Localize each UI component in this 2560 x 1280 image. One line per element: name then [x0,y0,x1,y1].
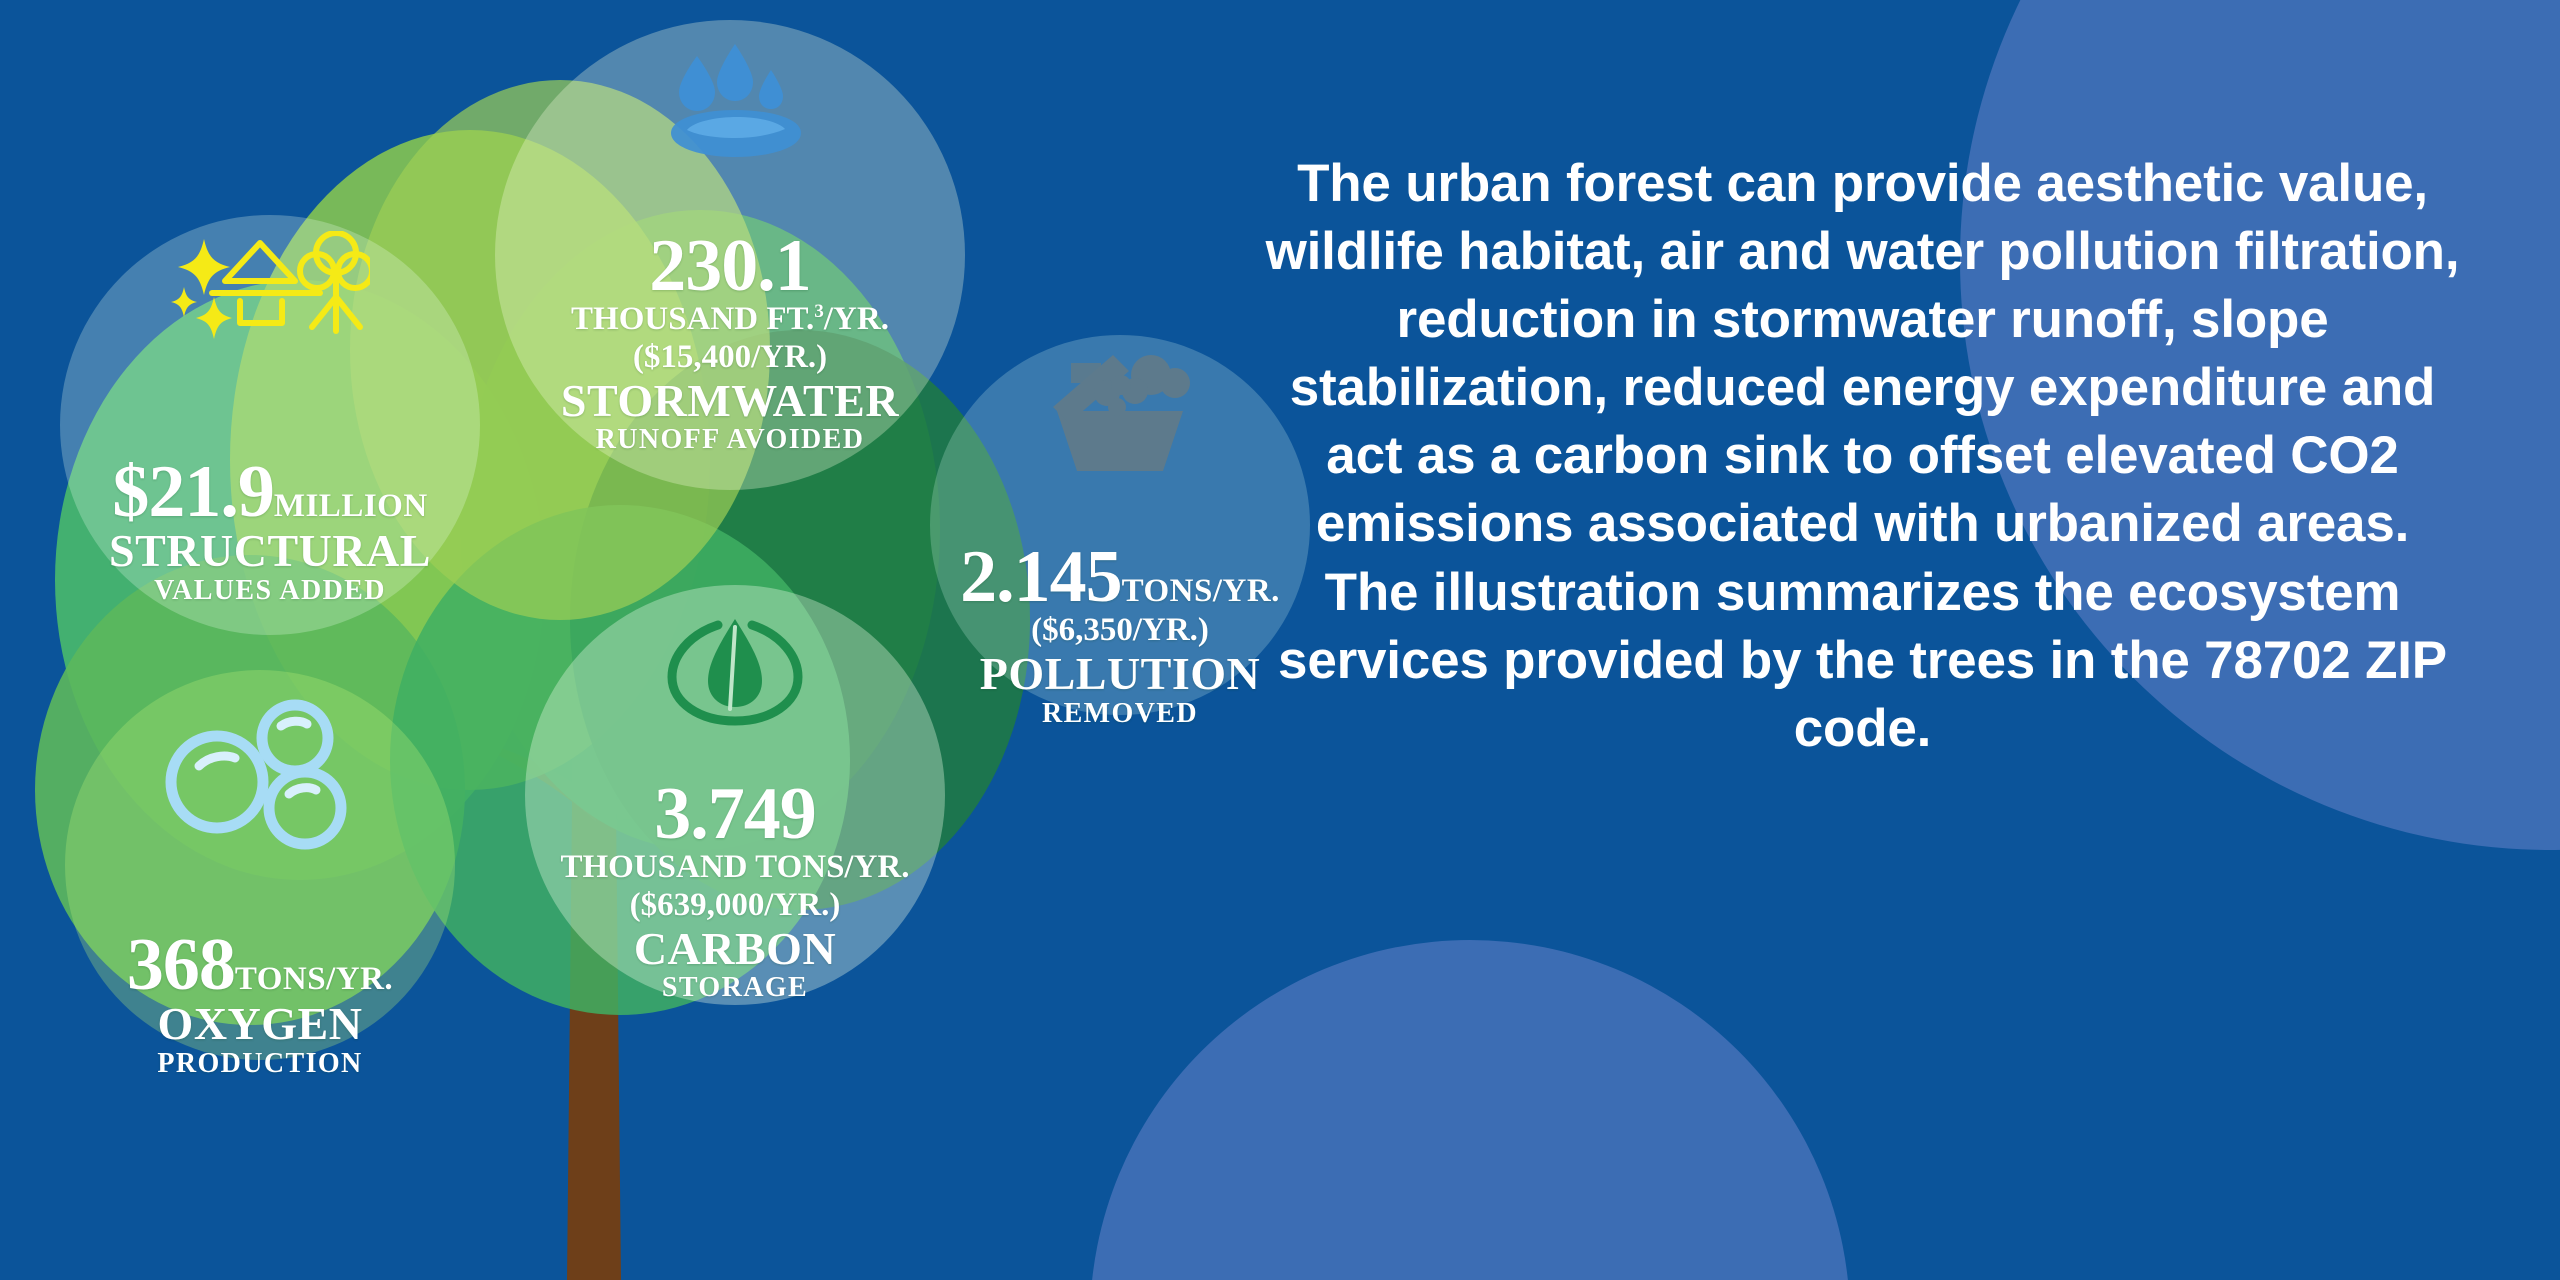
paragraph-urban-forest: The urban forest can provide aesthetic v… [1255,150,2470,559]
carbon-value-line: 3.749 [654,779,816,849]
stat-bubble-carbon: 3.749 THOUSAND TONS/YR. ($639,000/YR.) C… [525,585,945,1005]
oxygen-title: OXYGEN [158,1000,363,1048]
factory-smoke-icon [1035,349,1205,474]
carbon-caption: STORAGE [662,973,808,1004]
carbon-sub-line-1: THOUSAND TONS/YR. [560,849,909,887]
oxygen-unit: TONS/YR. [235,961,393,997]
oxygen-value: 368 [127,924,235,1006]
pollution-title: POLLUTION [980,650,1261,698]
structural-value-line: $21.9MILLION [112,457,427,527]
stormwater-value-line: 230.1 [649,231,811,301]
stormwater-value: 230.1 [649,225,811,307]
pollution-caption: REMOVED [1042,699,1198,730]
paragraph-illustration-summary: The illustration summarizes the ecosyste… [1255,559,2470,763]
infographic-canvas: $21.9MILLION STRUCTURAL VALUES ADDED 230… [0,0,2560,1280]
pollution-value: 2.145 [960,536,1122,618]
stat-bubble-pollution: 2.145TONS/YR. ($6,350/YR.) POLLUTION REM… [930,335,1310,715]
pollution-value-line: 2.145TONS/YR. [960,542,1280,612]
structural-title: STRUCTURAL [109,527,431,575]
stormwater-sub-line-2: ($15,400/YR.) [633,339,827,377]
structural-caption: VALUES ADDED [154,576,386,607]
stormwater-caption: RUNOFF AVOIDED [596,425,865,456]
pollution-sub: ($6,350/YR.) [1031,612,1209,650]
stormwater-title: STORMWATER [561,377,899,425]
description-text-column: The urban forest can provide aesthetic v… [1255,150,2470,763]
stat-bubble-oxygen: 368TONS/YR. OXYGEN PRODUCTION [65,670,455,1060]
structural-value: $21.9 [112,451,274,533]
structural-unit: MILLION [274,488,428,524]
oxygen-caption: PRODUCTION [157,1049,362,1080]
stormwater-sub-line-1: THOUSAND FT.3/YR. [571,301,889,339]
carbon-sub-line-2: ($639,000/YR.) [630,887,841,925]
leaf-circle-icon [660,609,810,729]
water-droplets-puddle-icon [635,38,825,163]
house-tree-sparkle-icon [170,231,370,341]
stat-bubble-structural: $21.9MILLION STRUCTURAL VALUES ADDED [60,215,480,635]
carbon-value: 3.749 [654,773,816,855]
stat-bubble-stormwater: 230.1 THOUSAND FT.3/YR. ($15,400/YR.) ST… [495,20,965,490]
carbon-title: CARBON [634,925,836,973]
oxygen-bubbles-icon [155,694,365,854]
oxygen-value-line: 368TONS/YR. [127,930,393,1000]
